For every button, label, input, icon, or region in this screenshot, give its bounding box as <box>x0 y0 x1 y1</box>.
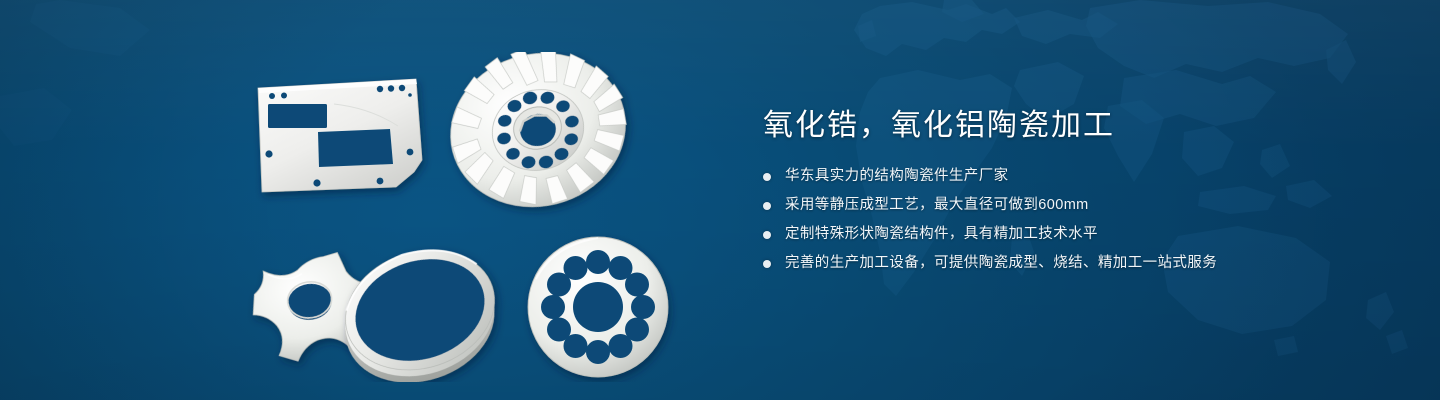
feature-list: 华东具实力的结构陶瓷件生产厂家 采用等静压成型工艺，最大直径可做到600mm 定… <box>763 166 1383 274</box>
list-item: 采用等静压成型工艺，最大直径可做到600mm <box>763 195 1383 216</box>
list-item: 完善的生产加工设备，可提供陶瓷成型、烧结、精加工一站式服务 <box>763 253 1383 274</box>
feature-text: 采用等静压成型工艺，最大直径可做到600mm <box>785 195 1089 216</box>
bullet-dot-icon <box>763 202 771 210</box>
feature-text: 定制特殊形状陶瓷结构件，具有精加工技术水平 <box>785 224 1098 245</box>
bullet-dot-icon <box>763 173 771 181</box>
feature-text: 华东具实力的结构陶瓷件生产厂家 <box>785 166 1009 187</box>
ceramic-valve-plate <box>528 237 668 377</box>
hero-banner: 氧化锆，氧化铝陶瓷加工 华东具实力的结构陶瓷件生产厂家 采用等静压成型工艺，最大… <box>0 0 1440 400</box>
list-item: 定制特殊形状陶瓷结构件，具有精加工技术水平 <box>763 224 1383 245</box>
ceramic-products-image <box>238 52 708 382</box>
banner-copy: 氧化锆，氧化铝陶瓷加工 华东具实力的结构陶瓷件生产厂家 采用等静压成型工艺，最大… <box>763 108 1383 274</box>
bullet-dot-icon <box>763 231 771 239</box>
ceramic-thin-rings <box>326 231 514 382</box>
feature-text: 完善的生产加工设备，可提供陶瓷成型、烧结、精加工一站式服务 <box>785 253 1217 274</box>
ceramic-mounting-plate <box>258 79 422 192</box>
bullet-dot-icon <box>763 260 771 268</box>
ceramic-vaned-impeller <box>433 52 644 225</box>
page-title: 氧化锆，氧化铝陶瓷加工 <box>763 108 1383 144</box>
list-item: 华东具实力的结构陶瓷件生产厂家 <box>763 166 1383 187</box>
